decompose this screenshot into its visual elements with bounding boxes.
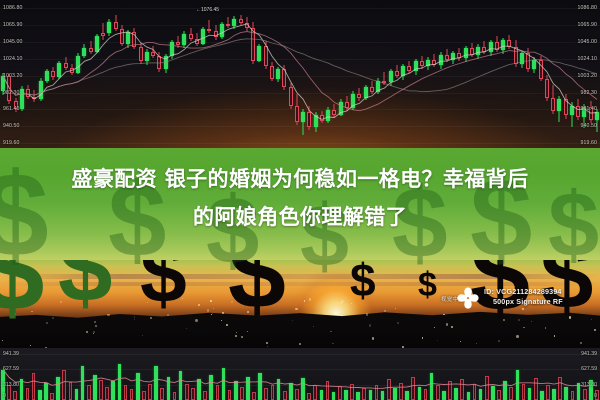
- volume-bar: [283, 391, 287, 400]
- volume-bar: [552, 389, 556, 400]
- candlestick: [526, 0, 530, 160]
- bokeh-dot: [372, 337, 375, 340]
- candlestick: [164, 0, 168, 160]
- price-axis-tick: 1086.80: [578, 5, 597, 11]
- gridline: [0, 354, 600, 355]
- volume-bar: [485, 376, 489, 400]
- volume-bar: [522, 384, 526, 400]
- bokeh-dot: [304, 300, 306, 302]
- candlestick: [70, 0, 74, 160]
- volume-bar: [405, 391, 409, 400]
- candlestick: [414, 0, 418, 160]
- price-axis-tick: 961.40: [3, 106, 19, 112]
- candlestick: [345, 0, 349, 160]
- bokeh-dot: [476, 343, 477, 344]
- price-axis-tick: 961.40: [581, 106, 597, 112]
- candlestick: [76, 0, 80, 160]
- price-axis-tick: 982.30: [3, 90, 19, 96]
- volume-bar: [448, 381, 452, 400]
- volume-bar: [411, 377, 415, 400]
- volume-bar: [154, 366, 158, 400]
- price-axis-tick: 1024.10: [3, 56, 22, 62]
- candlestick: [445, 0, 449, 160]
- volume-bar: [503, 381, 507, 400]
- candlestick: [214, 0, 218, 160]
- bokeh-dot: [235, 335, 237, 337]
- bokeh-dot: [52, 317, 54, 319]
- volume-bar: [393, 388, 397, 400]
- candlestick: [332, 0, 336, 160]
- volume-bar: [81, 366, 85, 400]
- candlestick: [189, 0, 193, 160]
- volume-bar: [32, 373, 36, 400]
- volume-bar: [185, 384, 189, 400]
- candlestick: [451, 0, 455, 160]
- volume-bar: [75, 389, 79, 400]
- candlestick: [326, 0, 330, 160]
- watermark-id: ID: VCG211284289394: [484, 287, 562, 296]
- candlestick: [45, 0, 49, 160]
- candlestick: [570, 0, 574, 160]
- volume-bar: [558, 377, 562, 400]
- gridline: [0, 369, 600, 370]
- candlestick: [276, 0, 280, 160]
- volume-bar: [381, 391, 385, 400]
- price-axis-tick: 1065.90: [3, 22, 22, 28]
- candlestick: [89, 0, 93, 160]
- candlestick: [370, 0, 374, 160]
- bokeh-dot: [186, 328, 187, 329]
- volume-axis-tick: 313.80: [3, 382, 19, 388]
- price-axis-tick: 940.50: [581, 123, 597, 129]
- candlestick: [495, 0, 499, 160]
- volume-bar: [320, 390, 324, 400]
- volume-bar: [105, 387, 109, 400]
- candlestick: [264, 0, 268, 160]
- volume-bar: [571, 391, 575, 400]
- volume-bar: [528, 388, 532, 400]
- volume-bar: [454, 388, 458, 400]
- candlestick: [551, 0, 555, 160]
- candlestick: [532, 0, 536, 160]
- volume-bar: [258, 373, 262, 400]
- volume-bar: [387, 379, 391, 400]
- candlestick: [226, 0, 230, 160]
- bokeh-dot: [516, 335, 519, 338]
- price-candlestick-chart: 1086.801065.901045.001024.101003.20982.3…: [0, 0, 600, 160]
- volume-bar: [313, 385, 317, 400]
- candlestick: [482, 0, 486, 160]
- candlestick: [82, 0, 86, 160]
- volume-axis-tick: 941.39: [3, 351, 19, 357]
- volume-bar: [13, 391, 17, 400]
- candlestick: [207, 0, 211, 160]
- candlestick: [176, 0, 180, 160]
- price-axis-tick: 1045.00: [3, 39, 22, 45]
- volume-axis-tick: 941.39: [581, 351, 597, 357]
- bokeh-dot: [594, 329, 596, 331]
- candlestick: [339, 0, 343, 160]
- candlestick: [245, 0, 249, 160]
- candlestick: [457, 0, 461, 160]
- bokeh-dot: [30, 345, 31, 346]
- volume-axis-tick: 627.59: [581, 366, 597, 372]
- volume-axis-tick: 313.80: [581, 382, 597, 388]
- volume-bar: [124, 385, 128, 400]
- price-axis-tick: 919.60: [3, 140, 19, 146]
- candlestick: [520, 0, 524, 160]
- volume-bar: [44, 383, 48, 400]
- candlestick: [157, 0, 161, 160]
- candlestick: [320, 0, 324, 160]
- candlestick: [282, 0, 286, 160]
- volume-bar: [264, 388, 268, 400]
- price-axis-tick: 1024.10: [578, 56, 597, 62]
- candlestick: [220, 0, 224, 160]
- candlestick: [351, 0, 355, 160]
- candlestick: [64, 0, 68, 160]
- volume-bar: [430, 373, 434, 400]
- bokeh-dot: [210, 300, 212, 302]
- headline-line-1: 盛豪配资 银子的婚姻为何稳如一格电？幸福背后: [71, 167, 528, 191]
- candlestick: [195, 0, 199, 160]
- volume-bar: [50, 393, 54, 400]
- volume-bar: [301, 378, 305, 400]
- price-axis-tick: 982.30: [581, 90, 597, 96]
- bokeh-dot: [266, 342, 268, 344]
- dollar-sign-icon: $: [58, 258, 113, 306]
- bokeh-dot: [580, 342, 582, 344]
- bokeh-dot: [531, 321, 532, 322]
- candlestick: [201, 0, 205, 160]
- volume-bar: [203, 391, 207, 400]
- volume-bar: [467, 392, 471, 400]
- volume-bar: [479, 389, 483, 400]
- price-axis-tick: 1065.90: [578, 22, 597, 28]
- candlestick: [476, 0, 480, 160]
- volume-bar: [240, 387, 244, 400]
- volume-bar: [130, 389, 134, 400]
- volume-bar: [362, 388, 366, 400]
- candlestick: [295, 0, 299, 160]
- stock-article-cover-image: 1086.801065.901045.001024.101003.20982.3…: [0, 0, 600, 400]
- headline-line-2: 的阿娘角色你理解错了: [0, 198, 600, 236]
- volume-bar: [234, 381, 238, 400]
- volume-bar: [20, 379, 24, 400]
- volume-bar: [222, 368, 226, 400]
- volume-bar: [326, 381, 330, 400]
- bokeh-dot: [211, 314, 212, 315]
- candlestick: [364, 0, 368, 160]
- bokeh-dot: [554, 335, 556, 337]
- volume-bar: [509, 387, 513, 400]
- candlestick: [270, 0, 274, 160]
- volume-bar: [442, 391, 446, 400]
- candlestick: [57, 0, 61, 160]
- candlestick: [357, 0, 361, 160]
- volume-bar: [93, 375, 97, 400]
- volume-bar: [179, 371, 183, 400]
- volume-bar: [246, 377, 250, 400]
- candlestick: [170, 0, 174, 160]
- candlestick: [314, 0, 318, 160]
- candlestick: [101, 0, 105, 160]
- bokeh-dot: [267, 346, 268, 347]
- candlestick: [501, 0, 505, 160]
- candlestick: [257, 0, 261, 160]
- candlestick: [120, 0, 124, 160]
- volume-bar: [99, 380, 103, 400]
- volume-bar: [295, 389, 299, 400]
- price-axis-tick: 1045.00: [578, 39, 597, 45]
- bokeh-dot: [309, 298, 312, 301]
- candlestick: [126, 0, 130, 160]
- candlestick: [489, 0, 493, 160]
- volume-bar: [350, 384, 354, 400]
- candlestick: [239, 0, 243, 160]
- candlestick: [26, 0, 30, 160]
- volume-bar: [252, 392, 256, 400]
- bokeh-dot: [241, 336, 243, 338]
- candlestick: [557, 0, 561, 160]
- volume-bar: [173, 392, 177, 400]
- candlestick: [507, 0, 511, 160]
- volume-bar: [307, 393, 311, 400]
- candlestick: [151, 0, 155, 160]
- bokeh-dot: [46, 322, 48, 324]
- volume-bar: [111, 381, 115, 400]
- volume-bar: [289, 383, 293, 400]
- volume-bar: [216, 385, 220, 400]
- candlestick: [564, 0, 568, 160]
- candlestick: [439, 0, 443, 160]
- candlestick: [251, 0, 255, 160]
- volume-bar: [38, 390, 42, 400]
- bokeh-dot: [369, 324, 372, 327]
- volume-bar: [26, 388, 30, 400]
- candlestick: [145, 0, 149, 160]
- candlestick: [232, 0, 236, 160]
- volume-bar: [399, 383, 403, 400]
- price-axis-tick: 1003.20: [578, 73, 597, 79]
- volume-bar: [87, 385, 91, 400]
- page-title: 盛豪配资 银子的婚姻为何稳如一格电？幸福背后 的阿娘角色你理解错了: [0, 160, 600, 236]
- candlestick: [114, 0, 118, 160]
- candlestick: [289, 0, 293, 160]
- volume-bar: [344, 390, 348, 400]
- candlestick: [95, 0, 99, 160]
- volume-bar: [62, 370, 66, 400]
- bokeh-dot: [2, 340, 3, 341]
- volume-bar: [577, 383, 581, 400]
- candlestick: [545, 0, 549, 160]
- bokeh-dot: [198, 304, 200, 306]
- candlestick: [407, 0, 411, 160]
- volume-bar: [160, 388, 164, 400]
- price-axis-tick: 1003.20: [3, 73, 22, 79]
- price-axis-tick: 940.50: [3, 123, 19, 129]
- watermark-license: 500px Signature RF: [493, 297, 563, 306]
- volume-bar: [56, 377, 60, 400]
- bokeh-dot: [213, 308, 214, 309]
- candlestick: [432, 0, 436, 160]
- candlestick: [182, 0, 186, 160]
- volume-bar: [148, 384, 152, 400]
- candlestick: [132, 0, 136, 160]
- bokeh-dot: [317, 312, 318, 313]
- bokeh-dot: [195, 319, 198, 322]
- volume-axis-tick: 0: [3, 393, 6, 399]
- volume-bar: [136, 373, 140, 400]
- candlestick: [470, 0, 474, 160]
- volume-bar: [197, 379, 201, 400]
- candlestick: [32, 0, 36, 160]
- volume-bar: [69, 382, 73, 400]
- volume-bar: [356, 392, 360, 400]
- volume-bar: [516, 370, 520, 400]
- price-peak-annotation: ←1076.45: [196, 7, 219, 13]
- volume-axis-tick: 627.59: [3, 366, 19, 372]
- volume-bar: [271, 385, 275, 400]
- bokeh-dot: [222, 312, 224, 314]
- volume-bar: [534, 378, 538, 400]
- volume-bar: [209, 375, 213, 400]
- volume-bar: [540, 391, 544, 400]
- candlestick: [539, 0, 543, 160]
- bokeh-dot: [207, 309, 210, 312]
- pinwheel-icon: [455, 285, 481, 311]
- watermark-logo: 视觉中国: [441, 284, 475, 314]
- bokeh-dot: [397, 322, 399, 324]
- volume-bar: [546, 385, 550, 400]
- bokeh-dot: [295, 308, 297, 310]
- candlestick: [464, 0, 468, 160]
- bokeh-dot: [292, 320, 293, 321]
- candlestick: [107, 0, 111, 160]
- candlestick: [426, 0, 430, 160]
- price-axis-tick: 919.60: [581, 140, 597, 146]
- candlestick: [139, 0, 143, 160]
- volume-bar: [277, 379, 281, 400]
- volume-bar: [583, 389, 587, 400]
- candlestick: [301, 0, 305, 160]
- volume-chart: 941.39627.59313.800 941.39627.59313.800: [0, 348, 600, 400]
- volume-bar: [142, 391, 146, 400]
- volume-bar: [369, 390, 373, 400]
- candlestick: [376, 0, 380, 160]
- volume-bar: [228, 390, 232, 400]
- bokeh-dot: [384, 310, 386, 312]
- bokeh-dot: [340, 302, 342, 304]
- volume-bar: [473, 384, 477, 400]
- volume-axis-tick: 0: [594, 393, 597, 399]
- volume-bar: [375, 385, 379, 400]
- volume-bar: [491, 386, 495, 400]
- volume-bar: [118, 364, 122, 400]
- bokeh-dot: [395, 308, 396, 309]
- bokeh-dot: [337, 302, 339, 304]
- volume-bar: [460, 379, 464, 400]
- candlestick: [514, 0, 518, 160]
- volume-bar: [338, 386, 342, 400]
- volume-bar: [424, 389, 428, 400]
- dollar-sign-icon: $: [350, 262, 376, 299]
- candlestick: [395, 0, 399, 160]
- candlestick: [401, 0, 405, 160]
- candlestick: [382, 0, 386, 160]
- bokeh-dot: [93, 331, 95, 333]
- volume-bar: [167, 377, 171, 400]
- volume-bar: [497, 390, 501, 400]
- volume-bar: [191, 388, 195, 400]
- candlestick: [51, 0, 55, 160]
- candlestick: [307, 0, 311, 160]
- price-axis-tick: 1086.80: [3, 5, 22, 11]
- candlestick: [420, 0, 424, 160]
- candlestick: [39, 0, 43, 160]
- volume-bar: [436, 385, 440, 400]
- candlestick: [389, 0, 393, 160]
- watermark: 视觉中国 ID: VCG211284289394 500px Signature…: [441, 282, 593, 316]
- volume-bar: [564, 387, 568, 400]
- volume-bar: [332, 392, 336, 400]
- volume-bar: [418, 387, 422, 400]
